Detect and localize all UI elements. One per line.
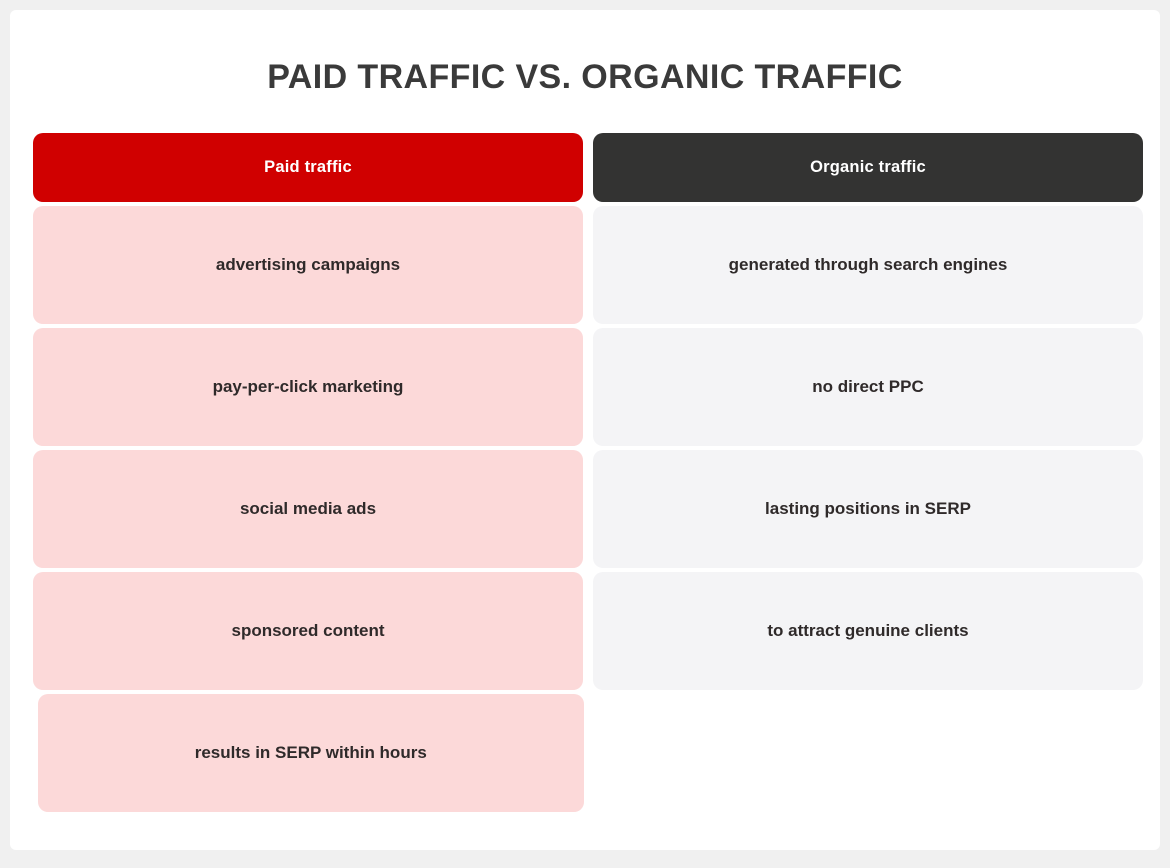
table-row: results in SERP within hours (33, 694, 1143, 812)
cell-organic-1[interactable]: generated through search engines (593, 206, 1143, 324)
cell-paid-2[interactable]: pay-per-click marketing (33, 328, 583, 446)
cell-paid-3[interactable]: social media ads (33, 450, 583, 568)
cell-organic-3[interactable]: lasting positions in SERP (593, 450, 1143, 568)
table-header-row: Paid traffic Organic traffic (33, 133, 1143, 202)
content-card: PAID TRAFFIC VS. ORGANIC TRAFFIC Paid tr… (10, 10, 1160, 850)
cell-paid-4[interactable]: sponsored content (33, 572, 583, 690)
column-header-paid-traffic[interactable]: Paid traffic (33, 133, 583, 202)
table-row: sponsored content to attract genuine cli… (33, 572, 1143, 690)
cell-organic-4[interactable]: to attract genuine clients (593, 572, 1143, 690)
page-title: PAID TRAFFIC VS. ORGANIC TRAFFIC (10, 58, 1160, 97)
cell-paid-5[interactable]: results in SERP within hours (38, 694, 584, 812)
cell-organic-5-empty (594, 694, 1144, 812)
table-row: social media ads lasting positions in SE… (33, 450, 1143, 568)
column-header-organic-traffic[interactable]: Organic traffic (593, 133, 1143, 202)
table-row: pay-per-click marketing no direct PPC (33, 328, 1143, 446)
table-row: advertising campaigns generated through … (33, 206, 1143, 324)
cell-organic-2[interactable]: no direct PPC (593, 328, 1143, 446)
cell-paid-1[interactable]: advertising campaigns (33, 206, 583, 324)
comparison-table: Paid traffic Organic traffic advertising… (33, 133, 1143, 816)
